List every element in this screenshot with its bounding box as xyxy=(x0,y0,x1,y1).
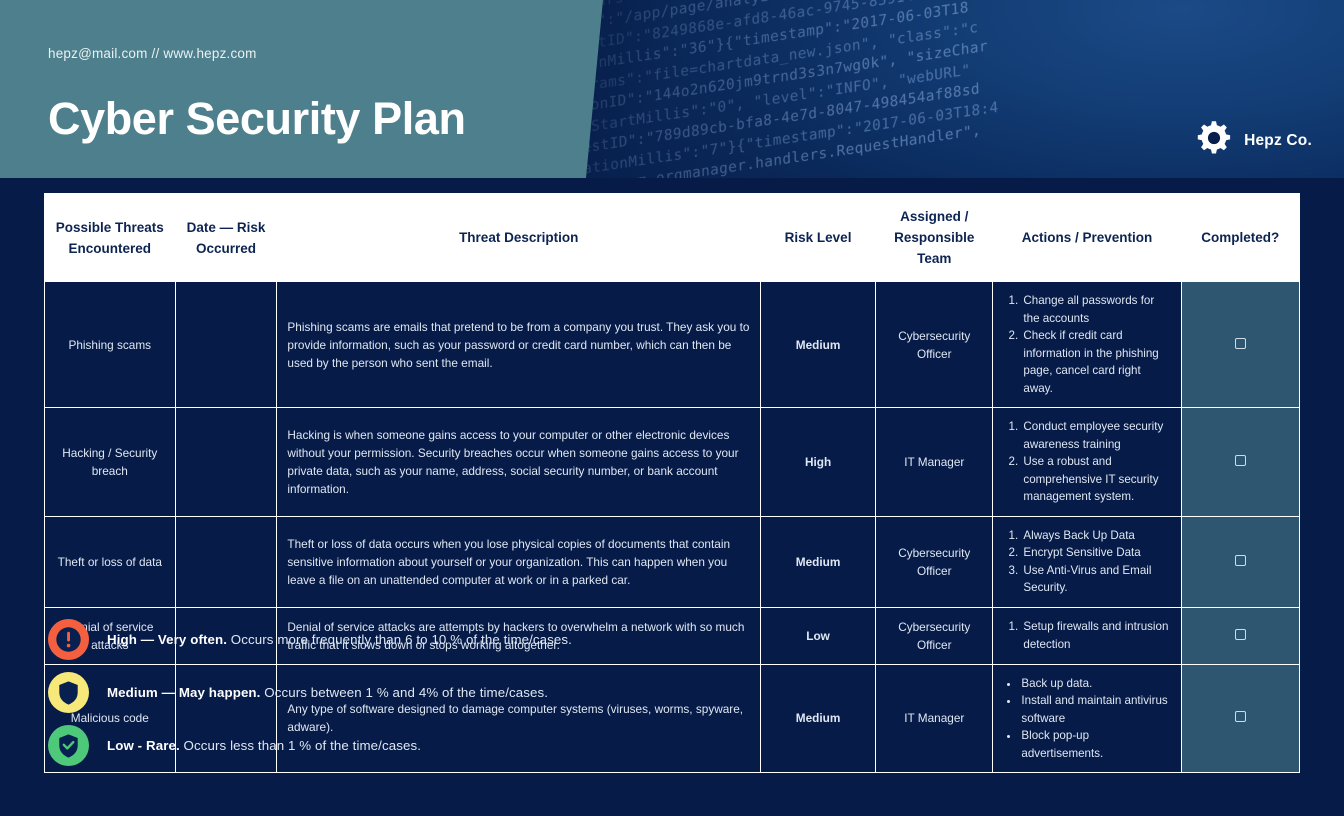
legend-row: Medium — May happen. Occurs between 1 % … xyxy=(48,666,1298,719)
legend-description: Occurs less than 1 % of the time/cases. xyxy=(180,738,421,753)
actions-list: Always Back Up DataEncrypt Sensitive Dat… xyxy=(1003,527,1170,597)
brand-logo: Hepz Co. xyxy=(1194,118,1312,163)
legend-description: Occurs between 1 % and 4% of the time/ca… xyxy=(260,685,548,700)
legend-label: Medium — May happen. xyxy=(107,685,260,700)
shield-icon xyxy=(48,672,89,713)
cell-actions-prevention: Change all passwords for the accountsChe… xyxy=(993,282,1181,408)
action-item: Encrypt Sensitive Data xyxy=(1021,544,1170,562)
cell-completed[interactable] xyxy=(1181,282,1299,408)
action-item: Use a robust and comprehensive IT securi… xyxy=(1021,453,1170,506)
actions-list: Conduct employee security awareness trai… xyxy=(1003,418,1170,506)
legend-label: Low - Rare. xyxy=(107,738,180,753)
action-item: Conduct employee security awareness trai… xyxy=(1021,418,1170,453)
completed-checkbox[interactable] xyxy=(1235,555,1246,566)
page-header: ass":"com.orgmanager.handlers.RequestHan… xyxy=(0,0,1344,178)
legend-label: High — Very often. xyxy=(107,632,227,647)
cyber-security-plan-page: ass":"com.orgmanager.handlers.RequestHan… xyxy=(0,0,1344,816)
cell-date-occurred[interactable] xyxy=(175,408,277,517)
cell-responsible-team: Cybersecurity Officer xyxy=(876,282,993,408)
cell-responsible-team: Cybersecurity Officer xyxy=(876,516,993,607)
table-row: Hacking / Security breachHacking is when… xyxy=(45,408,1300,517)
cell-completed[interactable] xyxy=(1181,408,1299,517)
table-header: Possible Threats Encountered Date — Risk… xyxy=(45,194,1300,282)
cell-threat-description: Hacking is when someone gains access to … xyxy=(277,408,761,517)
column-header-completed: Completed? xyxy=(1181,194,1299,282)
shield-check-icon xyxy=(48,725,89,766)
action-item: Change all passwords for the accounts xyxy=(1021,292,1170,327)
table-row: Theft or loss of dataTheft or loss of da… xyxy=(45,516,1300,607)
column-header-threats: Possible Threats Encountered xyxy=(45,194,176,282)
teal-title-panel xyxy=(0,0,620,178)
cell-risk-level: Medium xyxy=(761,516,876,607)
alert-exclamation-icon xyxy=(48,619,89,660)
cell-date-occurred[interactable] xyxy=(175,282,277,408)
cell-completed[interactable] xyxy=(1181,516,1299,607)
completed-checkbox[interactable] xyxy=(1235,338,1246,349)
column-header-risk-level: Risk Level xyxy=(761,194,876,282)
action-item: Check if credit card information in the … xyxy=(1021,327,1170,397)
completed-checkbox[interactable] xyxy=(1235,455,1246,466)
cell-risk-level: High xyxy=(761,408,876,517)
column-header-description: Threat Description xyxy=(277,194,761,282)
column-header-team: Assigned / Responsible Team xyxy=(876,194,993,282)
column-header-actions: Actions / Prevention xyxy=(993,194,1181,282)
cell-date-occurred[interactable] xyxy=(175,516,277,607)
cell-threat-name: Hacking / Security breach xyxy=(45,408,176,517)
cell-risk-level: Medium xyxy=(761,282,876,408)
page-title: Cyber Security Plan xyxy=(48,93,466,145)
legend-text: High — Very often. Occurs more frequentl… xyxy=(107,632,572,647)
action-item: Use Anti-Virus and Email Security. xyxy=(1021,562,1170,597)
legend-description: Occurs more frequently than 6 to 10 % of… xyxy=(227,632,572,647)
legend-text: Low - Rare. Occurs less than 1 % of the … xyxy=(107,738,421,753)
cell-threat-description: Theft or loss of data occurs when you lo… xyxy=(277,516,761,607)
contact-info: hepz@mail.com // www.hepz.com xyxy=(48,46,257,61)
cell-threat-name: Phishing scams xyxy=(45,282,176,408)
cell-threat-description: Phishing scams are emails that pretend t… xyxy=(277,282,761,408)
table-header-row: Possible Threats Encountered Date — Risk… xyxy=(45,194,1300,282)
column-header-date: Date — Risk Occurred xyxy=(175,194,277,282)
brand-name: Hepz Co. xyxy=(1244,132,1312,150)
cell-actions-prevention: Conduct employee security awareness trai… xyxy=(993,408,1181,517)
action-item: Always Back Up Data xyxy=(1021,527,1170,545)
cell-actions-prevention: Always Back Up DataEncrypt Sensitive Dat… xyxy=(993,516,1181,607)
risk-legend: High — Very often. Occurs more frequentl… xyxy=(48,613,1298,772)
legend-row: High — Very often. Occurs more frequentl… xyxy=(48,613,1298,666)
legend-text: Medium — May happen. Occurs between 1 % … xyxy=(107,685,548,700)
table-row: Phishing scamsPhishing scams are emails … xyxy=(45,282,1300,408)
legend-row: Low - Rare. Occurs less than 1 % of the … xyxy=(48,719,1298,772)
gear-icon xyxy=(1194,118,1234,163)
cell-threat-name: Theft or loss of data xyxy=(45,516,176,607)
cell-responsible-team: IT Manager xyxy=(876,408,993,517)
actions-list: Change all passwords for the accountsChe… xyxy=(1003,292,1170,397)
